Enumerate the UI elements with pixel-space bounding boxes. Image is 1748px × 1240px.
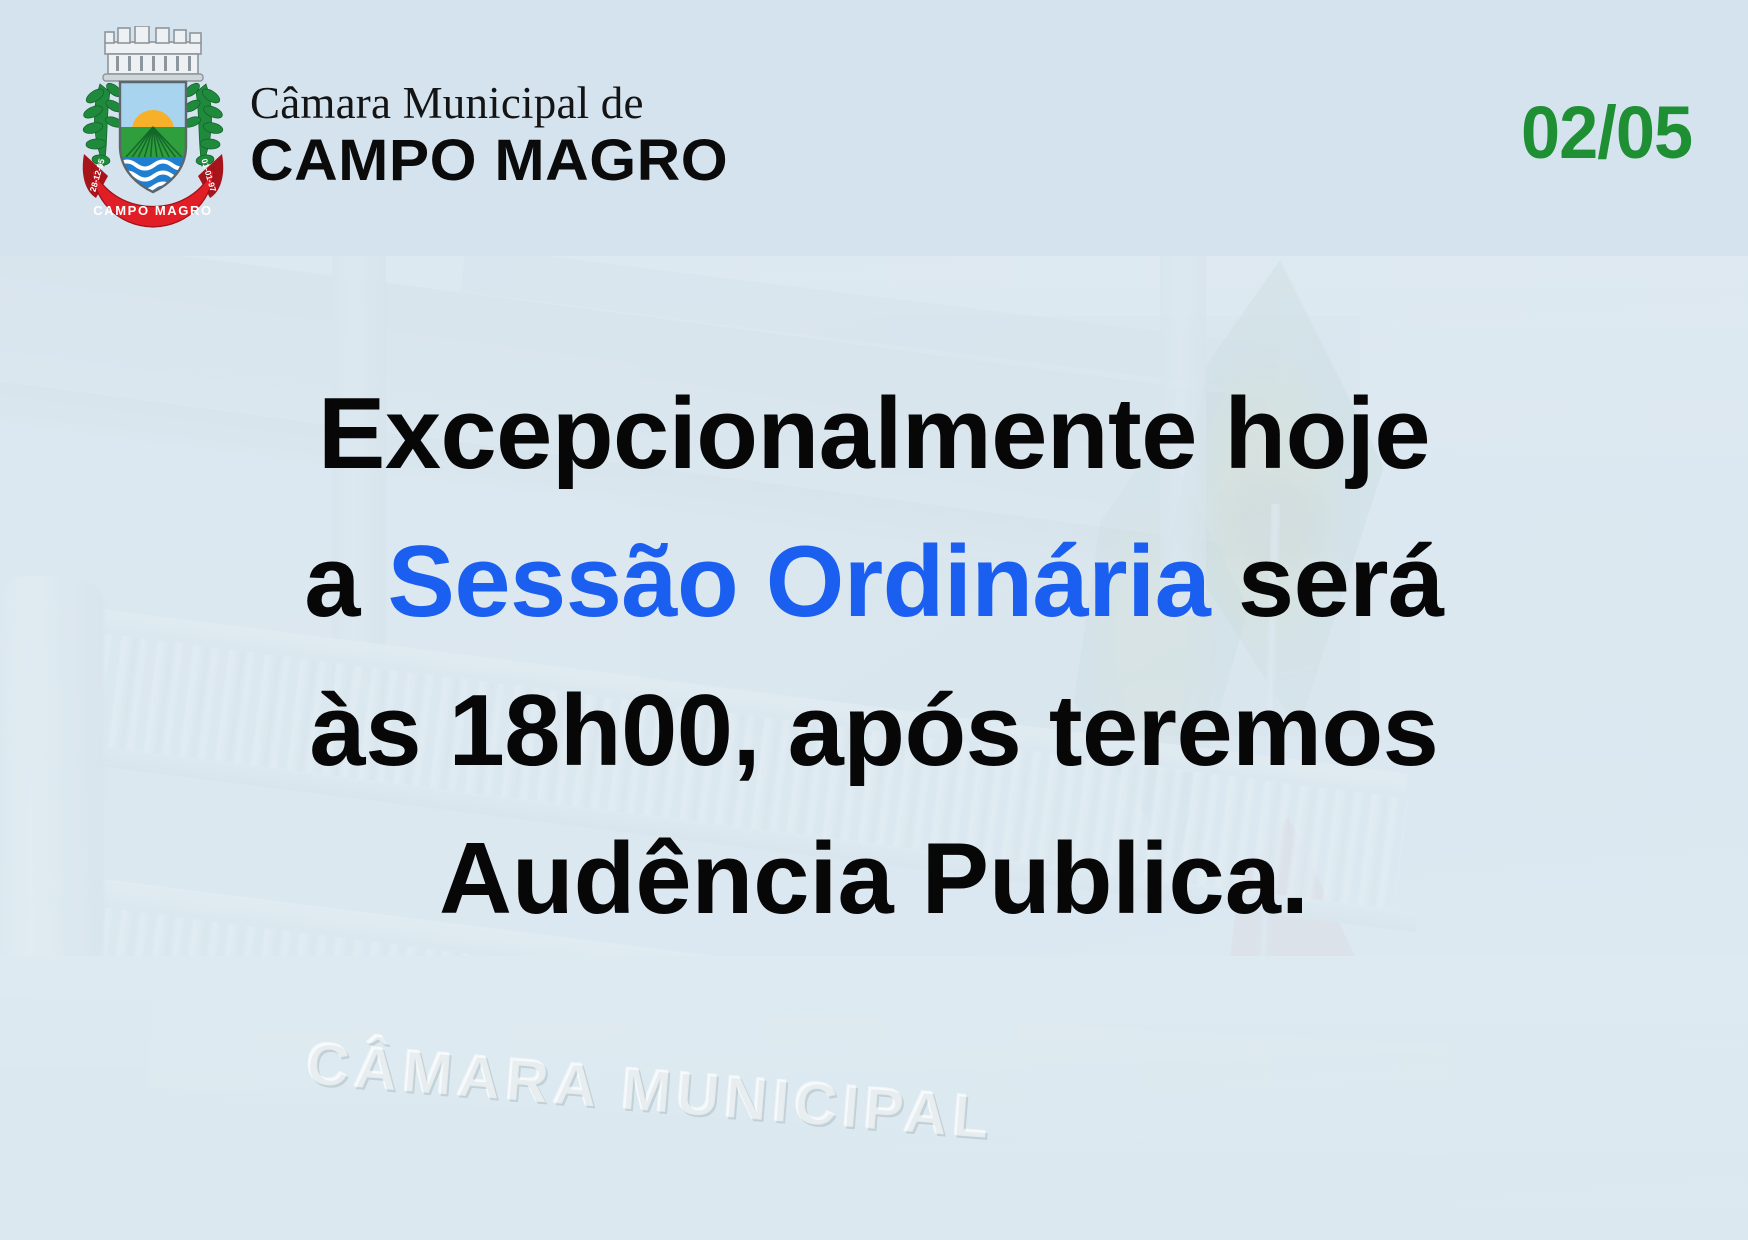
headline-line-2-before: a [304, 526, 387, 638]
headline-line-2: a Sessão Ordinária será [64, 508, 1684, 656]
wordmark-line-top: Câmara Municipal de [250, 81, 710, 126]
coat-of-arms-icon: CAMPO MAGRO 28-12-95 01-01-97 [78, 26, 228, 231]
announcement-poster: CÂMARA MUNICIPAL Excepcionalmente hoje a… [0, 0, 1748, 1240]
wordmark: Câmara Municipal de CAMPO MAGRO [250, 65, 710, 191]
headline-accent-session: Sessão Ordinária [388, 526, 1211, 638]
headline-line-3: às 18h00, após teremos [64, 657, 1684, 805]
svg-text:CAMPO MAGRO: CAMPO MAGRO [93, 203, 212, 218]
headline: Excepcionalmente hoje a Sessão Ordinária… [0, 360, 1748, 954]
wordmark-line-bottom: CAMPO MAGRO [250, 130, 728, 191]
brand-lockup: CAMPO MAGRO 28-12-95 01-01-97 Câmara Mun… [78, 26, 710, 231]
date-badge: 02/05 [1521, 96, 1692, 170]
headline-line-4: Audência Publica. [64, 805, 1684, 953]
header-band: CAMPO MAGRO 28-12-95 01-01-97 Câmara Mun… [0, 0, 1748, 256]
headline-line-2-after: será [1210, 526, 1443, 638]
headline-line-1: Excepcionalmente hoje [64, 360, 1684, 508]
